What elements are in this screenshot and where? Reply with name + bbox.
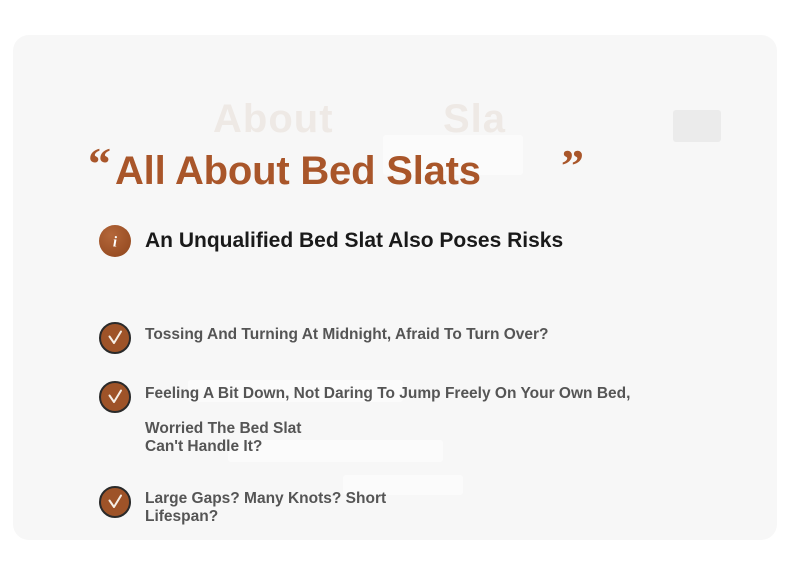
svg-text:i: i [113,235,118,251]
list-item-line: Tossing And Turning At Midnight, Afraid … [145,327,549,343]
list-item: Feeling A Bit Down, Not Daring To Jump F… [99,380,739,455]
list-item-line: Worried The Bed Slat [145,421,630,437]
list-item: Tossing And Turning At Midnight, Afraid … [99,321,739,354]
check-circle-icon [99,486,131,518]
page-title: All About Bed Slats [115,151,481,191]
check-circle-icon [99,322,131,354]
list-item-line: Large Gaps? Many Knots? Short [145,491,386,507]
list-item-line: Can't Handle It? [145,439,630,455]
subtitle-row: i An Unqualified Bed Slat Also Poses Ris… [99,225,563,257]
check-circle-icon [99,381,131,413]
benefit-list: Tossing And Turning At Midnight, Afraid … [99,321,739,540]
list-item-text: Large Gaps? Many Knots? Short Lifespan? [145,485,386,525]
ghost-block-topright [673,110,721,142]
info-icon: i [99,225,131,257]
list-item-text: Feeling A Bit Down, Not Daring To Jump F… [145,380,630,455]
list-item-line: Feeling A Bit Down, Not Daring To Jump F… [145,386,630,402]
screen-root: About Sla “ All About Bed Slats ” i An U… [0,0,790,579]
list-item-text: Tossing And Turning At Midnight, Afraid … [145,321,549,343]
ghost-title-watermark: About [213,97,334,142]
title-row: “ All About Bed Slats [88,143,481,199]
page-subtitle: An Unqualified Bed Slat Also Poses Risks [145,229,563,252]
promo-card: About Sla “ All About Bed Slats ” i An U… [13,35,777,540]
list-item-line: Lifespan? [145,509,386,525]
quote-close-icon: ” [561,143,584,189]
list-item: Large Gaps? Many Knots? Short Lifespan? [99,485,739,525]
ghost-title-watermark-2: Sla [443,97,506,142]
quote-open-icon: “ [88,141,111,187]
